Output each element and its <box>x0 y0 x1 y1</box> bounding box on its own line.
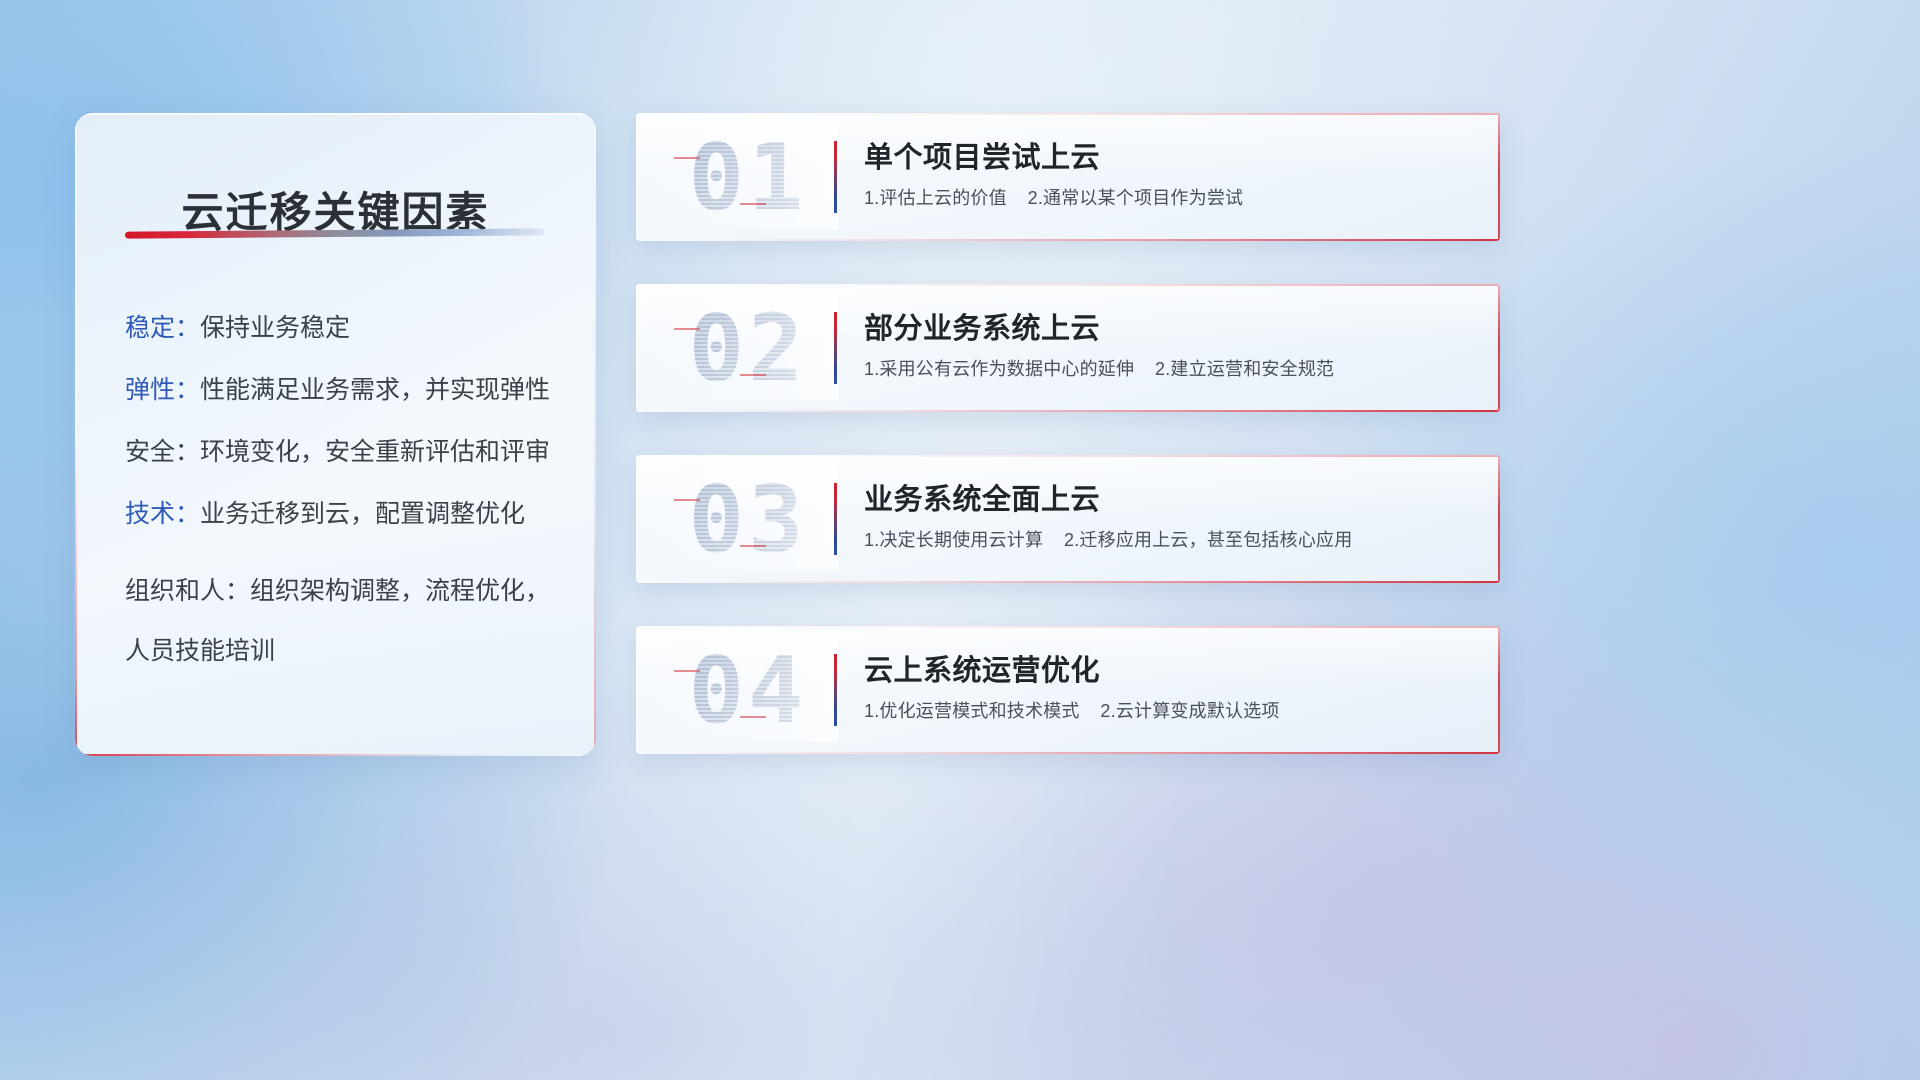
step-card-01[interactable]: 01 单个项目尝试上云 1.评估上云的价值 2.通常以某个项目作为尝试 <box>636 113 1500 241</box>
step-number-ghost: 01 <box>658 125 838 229</box>
number-accent-tick <box>740 545 766 547</box>
card-border-top <box>636 455 1500 457</box>
number-accent-tick <box>674 499 700 501</box>
card-border-left <box>636 455 638 583</box>
step-text-block: 单个项目尝试上云 1.评估上云的价值 2.通常以某个项目作为尝试 <box>864 139 1474 210</box>
step-title: 业务系统全面上云 <box>864 481 1474 519</box>
card-border-left <box>636 284 638 412</box>
list-item: 稳定：保持业务稳定 <box>125 313 568 343</box>
panel-content: 云迁移关键因素 稳定：保持业务稳定 弹性：性能满足业务需求，并实现弹性 安全：环… <box>75 113 596 756</box>
step-accent-bar <box>834 654 837 726</box>
number-accent-tick <box>740 716 766 718</box>
step-number-ghost: 04 <box>658 638 838 742</box>
slide-stage: 云迁移关键因素 稳定：保持业务稳定 弹性：性能满足业务需求，并实现弹性 安全：环… <box>0 0 1920 1080</box>
key-factors-panel: 云迁移关键因素 稳定：保持业务稳定 弹性：性能满足业务需求，并实现弹性 安全：环… <box>75 113 596 756</box>
factor-desc: 性能满足业务需求，并实现弹性 <box>200 376 550 404</box>
step-card-02[interactable]: 02 部分业务系统上云 1.采用公有云作为数据中心的延伸 2.建立运营和安全规范 <box>636 284 1500 412</box>
step-title: 部分业务系统上云 <box>864 310 1474 348</box>
step-subtitle: 1.决定长期使用云计算 2.迁移应用上云，甚至包括核心应用 <box>864 528 1474 552</box>
key-factor-list: 稳定：保持业务稳定 弹性：性能满足业务需求，并实现弹性 安全：环境变化，安全重新… <box>125 313 568 689</box>
factor-desc: 保持业务稳定 <box>200 314 350 342</box>
step-card-04[interactable]: 04 云上系统运营优化 1.优化运营模式和技术模式 2.云计算变成默认选项 <box>636 626 1500 754</box>
number-accent-tick <box>740 203 766 205</box>
card-border-right <box>1498 284 1500 412</box>
number-accent-tick <box>674 157 700 159</box>
card-border-right <box>1498 626 1500 754</box>
step-number-ghost: 03 <box>658 467 838 571</box>
factor-label: 稳定： <box>125 314 200 342</box>
step-text-block: 部分业务系统上云 1.采用公有云作为数据中心的延伸 2.建立运营和安全规范 <box>864 310 1474 381</box>
card-border-right <box>1498 455 1500 583</box>
step-text-block: 云上系统运营优化 1.优化运营模式和技术模式 2.云计算变成默认选项 <box>864 652 1474 723</box>
step-accent-bar <box>834 483 837 555</box>
step-subtitle: 1.采用公有云作为数据中心的延伸 2.建立运营和安全规范 <box>864 357 1474 381</box>
step-text-block: 业务系统全面上云 1.决定长期使用云计算 2.迁移应用上云，甚至包括核心应用 <box>864 481 1474 552</box>
factor-label: 安全： <box>125 438 200 466</box>
factor-desc: 环境变化，安全重新评估和评审 <box>200 438 550 466</box>
step-subtitle: 1.优化运营模式和技术模式 2.云计算变成默认选项 <box>864 699 1474 723</box>
card-border-top <box>636 113 1500 115</box>
factor-label: 弹性： <box>125 376 200 404</box>
card-border-bottom <box>636 410 1500 412</box>
list-item: 安全：环境变化，安全重新评估和评审 <box>125 437 568 467</box>
number-accent-tick <box>674 328 700 330</box>
step-accent-bar <box>834 312 837 384</box>
step-title: 云上系统运营优化 <box>864 652 1474 690</box>
card-border-bottom <box>636 581 1500 583</box>
step-accent-bar <box>834 141 837 213</box>
card-border-top <box>636 626 1500 628</box>
card-border-bottom <box>636 752 1500 754</box>
step-card-03[interactable]: 03 业务系统全面上云 1.决定长期使用云计算 2.迁移应用上云，甚至包括核心应… <box>636 455 1500 583</box>
card-border-top <box>636 284 1500 286</box>
card-border-left <box>636 113 638 241</box>
factor-label: 组织和人： <box>125 577 250 605</box>
factor-label: 技术： <box>125 500 200 528</box>
number-accent-tick <box>674 670 700 672</box>
step-subtitle: 1.评估上云的价值 2.通常以某个项目作为尝试 <box>864 186 1474 210</box>
list-item: 弹性：性能满足业务需求，并实现弹性 <box>125 375 568 405</box>
card-border-right <box>1498 113 1500 241</box>
list-item: 组织和人：组织架构调整，流程优化，人员技能培训 <box>125 561 568 681</box>
list-item: 技术：业务迁移到云，配置调整优化 <box>125 499 568 529</box>
step-number-ghost: 02 <box>658 296 838 400</box>
step-title: 单个项目尝试上云 <box>864 139 1474 177</box>
factor-desc: 业务迁移到云，配置调整优化 <box>200 500 525 528</box>
number-accent-tick <box>740 374 766 376</box>
card-border-left <box>636 626 638 754</box>
card-border-bottom <box>636 239 1500 241</box>
